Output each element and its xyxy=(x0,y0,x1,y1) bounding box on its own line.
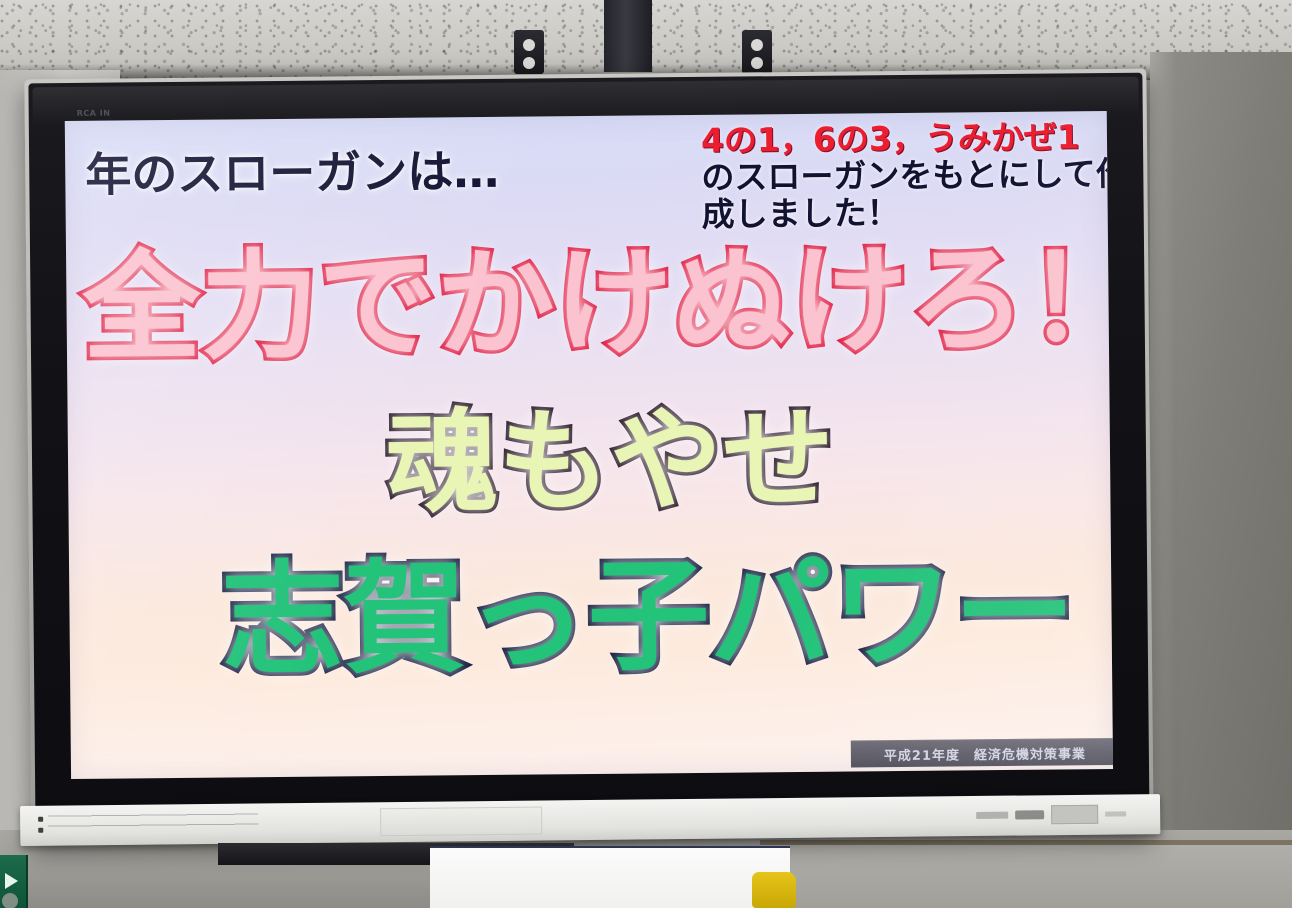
slide-headline-1: 全力でかけぬけろ！ xyxy=(82,239,1113,367)
label-text-line xyxy=(976,811,1008,818)
bullet-icon xyxy=(38,817,43,822)
manufacturer-label xyxy=(976,802,1126,826)
slide-headline-2: 魂もやせ xyxy=(386,404,835,520)
mount-bracket-right xyxy=(742,30,772,74)
slide-note-block: 4の1，6の3，うみかぜ1 のスローガンをもとにして作 成しました！ xyxy=(701,119,1113,234)
slide-intro-line: 年のスローガンは… xyxy=(85,133,686,205)
tv-screen[interactable]: 年のスローガンは… 4の1，6の3，うみかぜ1 のスローガンをもとにして作 成し… xyxy=(65,111,1113,779)
television[interactable]: RCA IN 年のスローガンは… 4の1，6の3，うみかぜ1 のスローガンをもと… xyxy=(24,69,1153,842)
bezel-micro-label: RCA IN xyxy=(77,109,111,118)
bullet-icon xyxy=(38,828,43,833)
emergency-exit-sign xyxy=(0,855,28,908)
bracket-hole-icon xyxy=(751,57,763,69)
exit-disc-icon xyxy=(2,893,18,908)
label-box xyxy=(1051,804,1099,823)
bracket-hole-icon xyxy=(751,39,763,51)
wall-right-bevel xyxy=(1150,52,1176,908)
mount-bracket-left xyxy=(514,30,544,74)
slide-footer-caption: 平成21年度 経済危機対策事業 xyxy=(851,738,1113,768)
label-text-line xyxy=(1105,811,1126,816)
wall-lower-band xyxy=(760,840,1292,908)
photo-scene: RCA IN 年のスローガンは… 4の1，6の3，うみかぜ1 のスローガンをもと… xyxy=(0,0,1292,908)
wall-trim-line xyxy=(760,840,1292,845)
slide-note-line-2: 成しました！ xyxy=(702,193,1114,234)
whiteboard xyxy=(430,846,790,908)
bracket-hole-icon xyxy=(523,39,535,51)
ceiling-post xyxy=(604,0,652,72)
slide-note-line-1: のスローガンをもとにして作 xyxy=(701,156,1113,197)
label-logo-icon xyxy=(1015,810,1044,819)
label-block xyxy=(380,807,542,837)
slide-headline-3: 志賀っ子パワー xyxy=(221,551,1076,681)
yellow-object xyxy=(752,872,796,908)
fine-print-text xyxy=(48,811,258,837)
bracket-hole-icon xyxy=(523,57,535,69)
exit-arrow-icon xyxy=(5,873,18,889)
